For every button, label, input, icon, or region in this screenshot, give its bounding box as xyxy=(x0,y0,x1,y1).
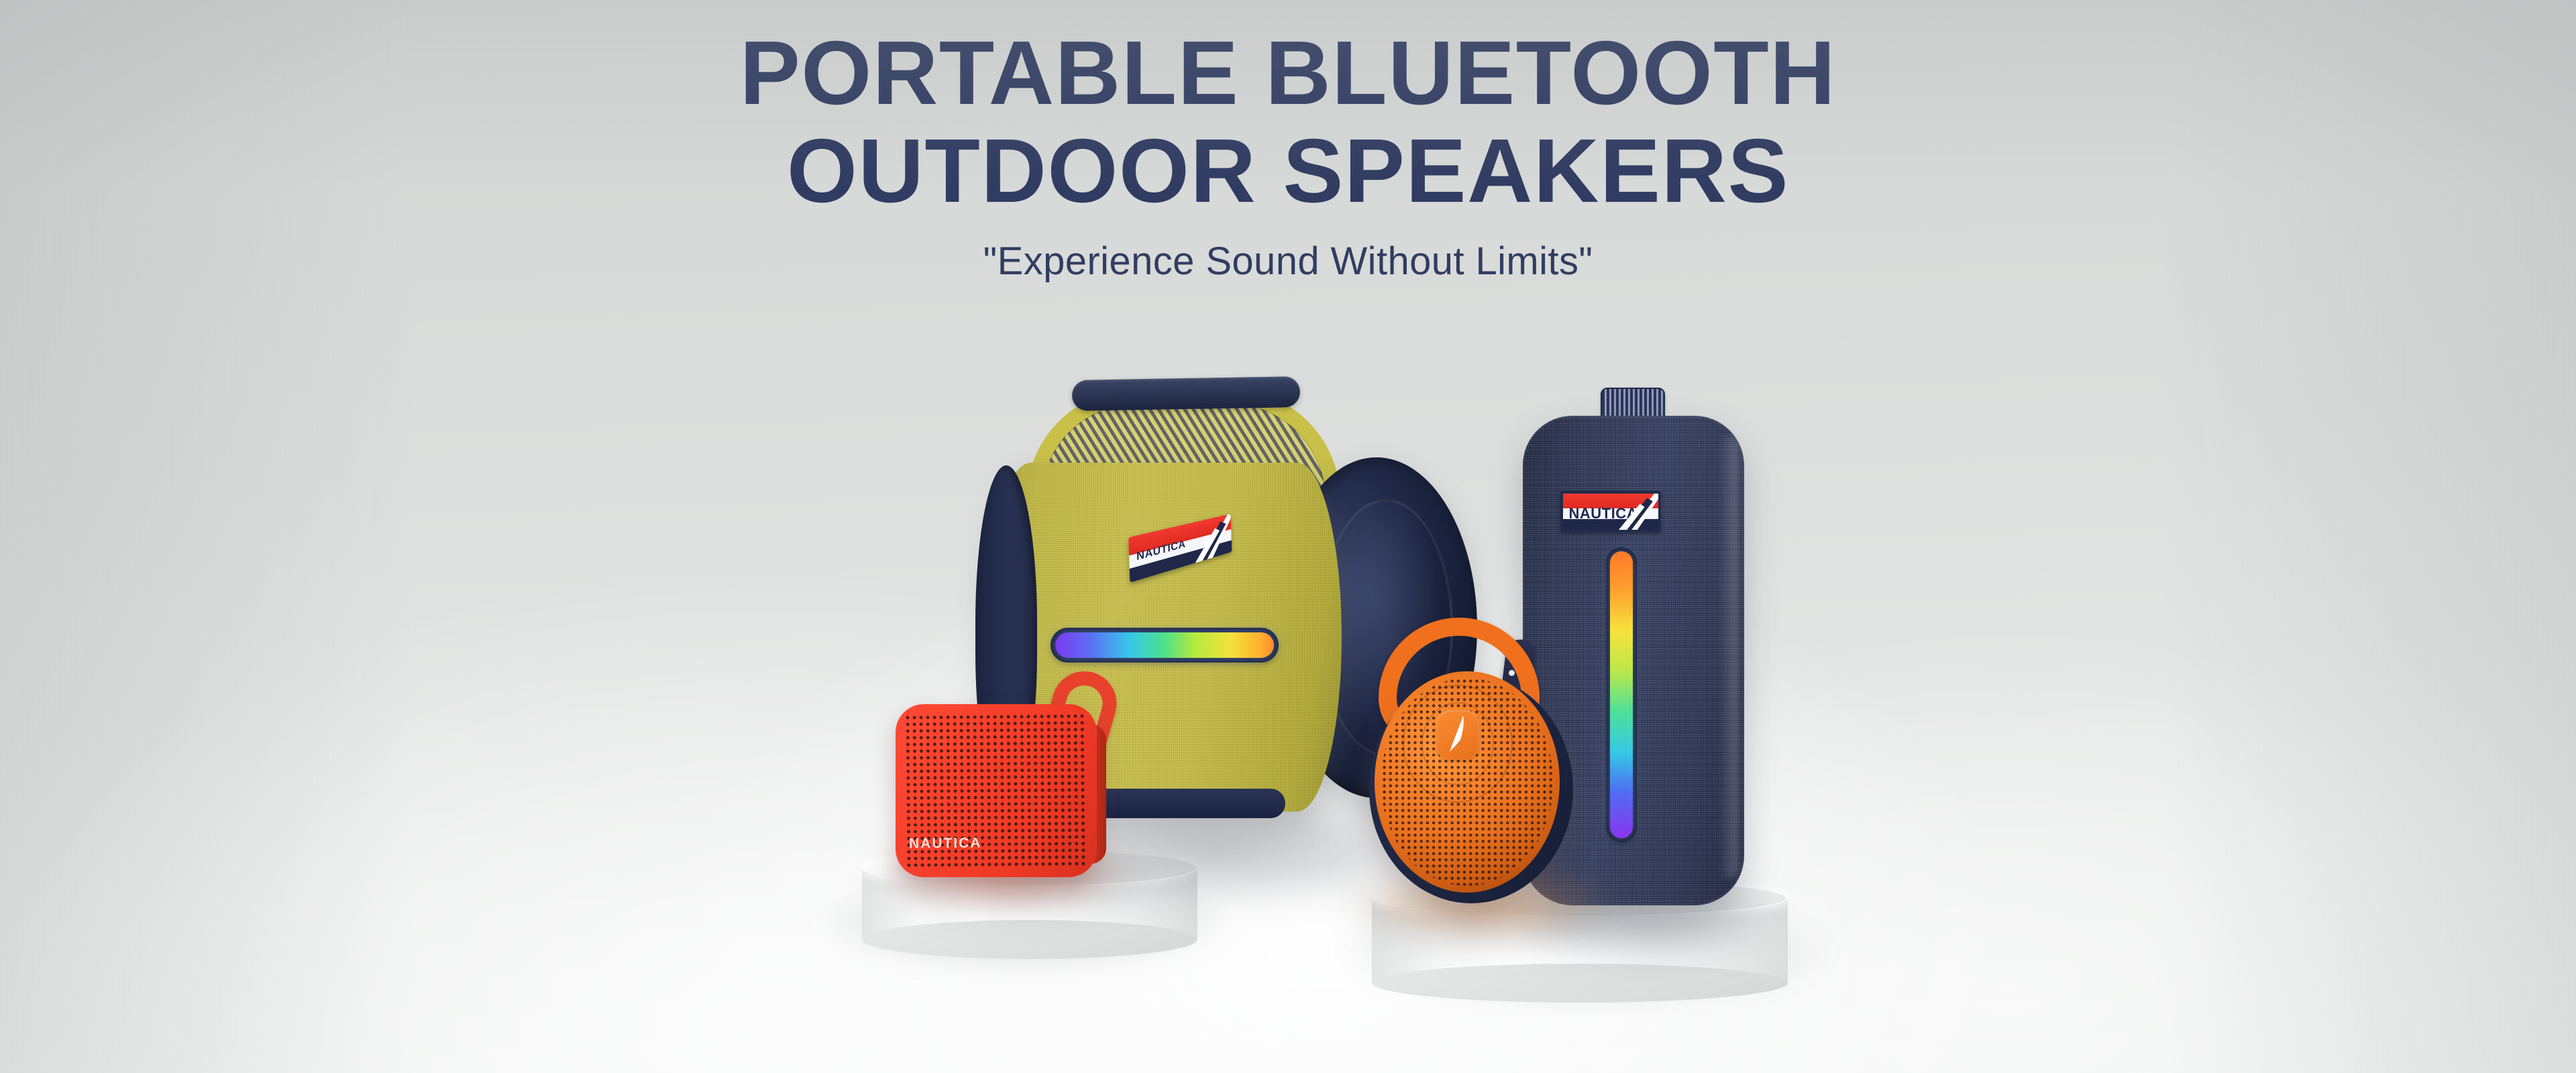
podium-right-base xyxy=(1372,964,1788,1003)
sail-logo-pad xyxy=(1436,710,1479,760)
handle-grip[interactable] xyxy=(1072,376,1301,411)
brand-text-logo: NAUTICA xyxy=(909,836,982,852)
product-orange-clip-speaker[interactable] xyxy=(1365,627,1593,909)
sail-swoosh-icon xyxy=(1603,492,1661,532)
sail-logo-icon xyxy=(1436,710,1479,760)
red-speaker-body: NAUTICA xyxy=(896,704,1097,877)
page-title-line-2: OUTDOOR SPEAKERS xyxy=(0,122,2576,220)
nautica-logo-badge: NAUTICA xyxy=(1560,491,1661,532)
podium-left-base xyxy=(862,920,1197,959)
rgb-glow xyxy=(1055,632,1274,658)
rgb-light-bar-horizontal xyxy=(1051,628,1279,663)
body-highlight xyxy=(1719,436,1739,879)
hero-banner: PORTABLE BLUETOOTH OUTDOOR SPEAKERS "Exp… xyxy=(0,0,2576,1073)
product-red-mini-speaker[interactable]: NAUTICA xyxy=(896,704,1117,885)
page-subtitle: "Experience Sound Without Limits" xyxy=(0,239,2576,284)
rgb-light-bar-vertical xyxy=(1606,547,1637,842)
clip-pivot-dot-icon xyxy=(1509,670,1515,676)
page-title-line-1: PORTABLE BLUETOOTH xyxy=(0,24,2576,122)
banner-text-block: PORTABLE BLUETOOTH OUTDOOR SPEAKERS "Exp… xyxy=(0,24,2576,284)
rgb-glow xyxy=(1610,551,1633,838)
